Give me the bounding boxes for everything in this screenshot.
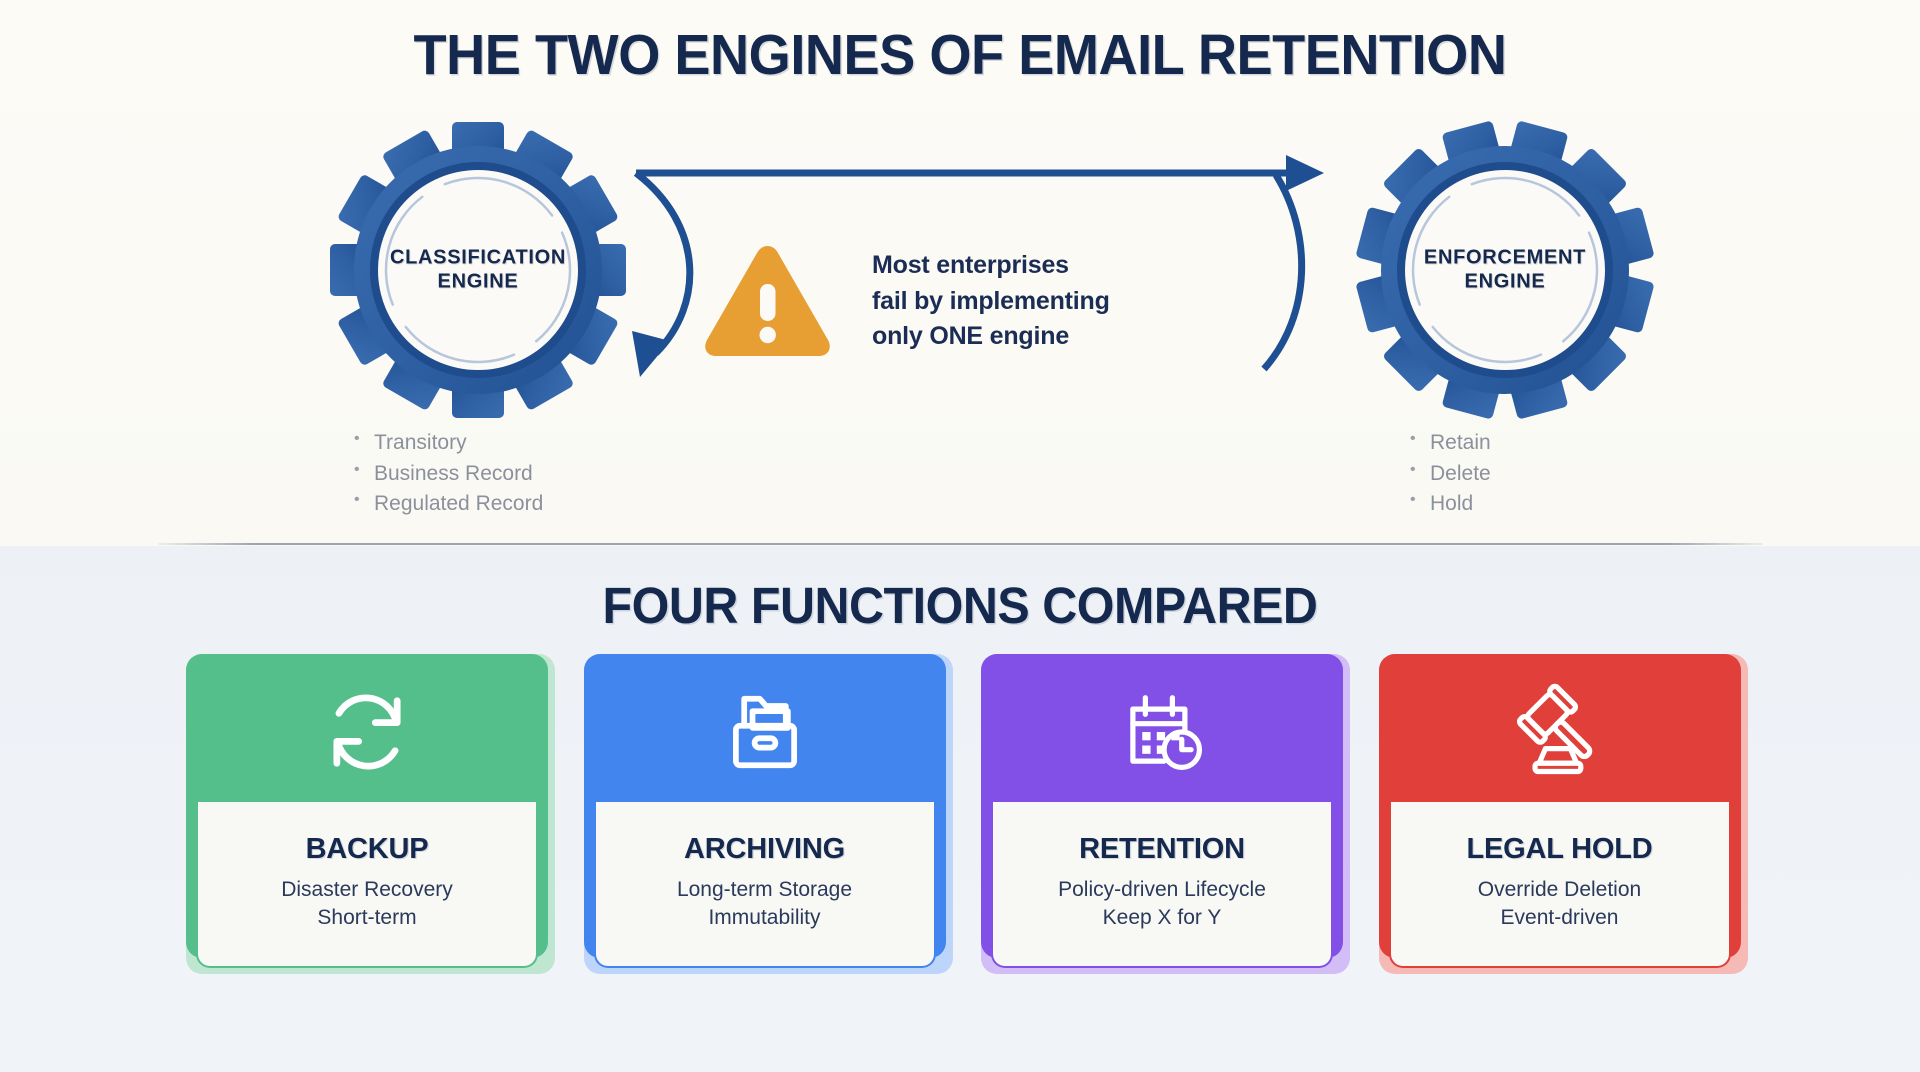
warning-line-2: fail by implementing (872, 284, 1242, 320)
card-subtitle-line1: Disaster Recovery (281, 876, 453, 904)
card-text-body: BACKUP Disaster Recovery Short-term (196, 802, 538, 968)
list-item: Retain (1408, 428, 1491, 459)
section-divider (158, 543, 1763, 545)
card-subtitle: Override Deletion Event-driven (1478, 876, 1641, 931)
enforcement-bullet-list: Retain Delete Hold (1408, 428, 1491, 520)
list-item: Transitory (352, 428, 543, 459)
warning-triangle-icon (700, 240, 835, 360)
card-subtitle: Long-term Storage Immutability (677, 876, 852, 931)
file-drawer-icon (584, 662, 946, 802)
arc-arrow-right-icon (1264, 175, 1302, 369)
function-card-retention[interactable]: RETENTION Policy-driven Lifecycle Keep X… (981, 654, 1349, 974)
sync-refresh-icon (186, 662, 548, 802)
comparison-title: FOUR FUNCTIONS COMPARED (48, 576, 1872, 635)
enforcement-engine-gear: ENFORCEMENT ENGINE (1325, 120, 1685, 420)
calendar-clock-icon (981, 662, 1343, 802)
warning-line-3: only ONE engine (872, 319, 1242, 355)
card-text-body: ARCHIVING Long-term Storage Immutability (594, 802, 936, 968)
card-text-body: LEGAL HOLD Override Deletion Event-drive… (1389, 802, 1731, 968)
function-card-backup[interactable]: BACKUP Disaster Recovery Short-term (186, 654, 554, 974)
card-subtitle-line1: Policy-driven Lifecycle (1058, 876, 1266, 904)
list-item: Business Record (352, 459, 543, 490)
card-subtitle-line1: Override Deletion (1478, 876, 1641, 904)
card-text-body: RETENTION Policy-driven Lifecycle Keep X… (991, 802, 1333, 968)
card-title: BACKUP (306, 833, 429, 866)
engines-section: THE TWO ENGINES OF EMAIL RETENTION (0, 0, 1920, 546)
card-subtitle-line2: Short-term (281, 904, 453, 932)
arrow-right-icon (636, 155, 1324, 191)
card-title: RETENTION (1079, 833, 1245, 866)
card-title: LEGAL HOLD (1467, 833, 1653, 866)
page-title: THE TWO ENGINES OF EMAIL RETENTION (48, 22, 1872, 88)
infographic-page: THE TWO ENGINES OF EMAIL RETENTION (0, 0, 1920, 1072)
card-subtitle-line1: Long-term Storage (677, 876, 852, 904)
warning-line-1: Most enterprises (872, 248, 1242, 284)
function-card-legal-hold[interactable]: LEGAL HOLD Override Deletion Event-drive… (1379, 654, 1747, 974)
card-title: ARCHIVING (684, 833, 845, 866)
function-cards-row: BACKUP Disaster Recovery Short-term (186, 654, 1746, 974)
arc-arrow-left-icon (632, 173, 690, 377)
timeline-ruler (160, 1002, 1760, 1054)
classification-bullet-list: Transitory Business Record Regulated Rec… (352, 428, 543, 520)
card-subtitle-line2: Keep X for Y (1058, 904, 1266, 932)
card-subtitle: Disaster Recovery Short-term (281, 876, 453, 931)
warning-message: Most enterprises fail by implementing on… (872, 248, 1242, 355)
card-subtitle-line2: Immutability (677, 904, 852, 932)
list-item: Regulated Record (352, 489, 543, 520)
function-card-archiving[interactable]: ARCHIVING Long-term Storage Immutability (584, 654, 952, 974)
comparison-section: FOUR FUNCTIONS COMPARED BACKUP (0, 546, 1920, 1072)
gavel-icon (1379, 662, 1741, 802)
list-item: Hold (1408, 489, 1491, 520)
card-subtitle: Policy-driven Lifecycle Keep X for Y (1058, 876, 1266, 931)
gear-icon (1325, 120, 1685, 420)
card-subtitle-line2: Event-driven (1478, 904, 1641, 932)
list-item: Delete (1408, 459, 1491, 490)
